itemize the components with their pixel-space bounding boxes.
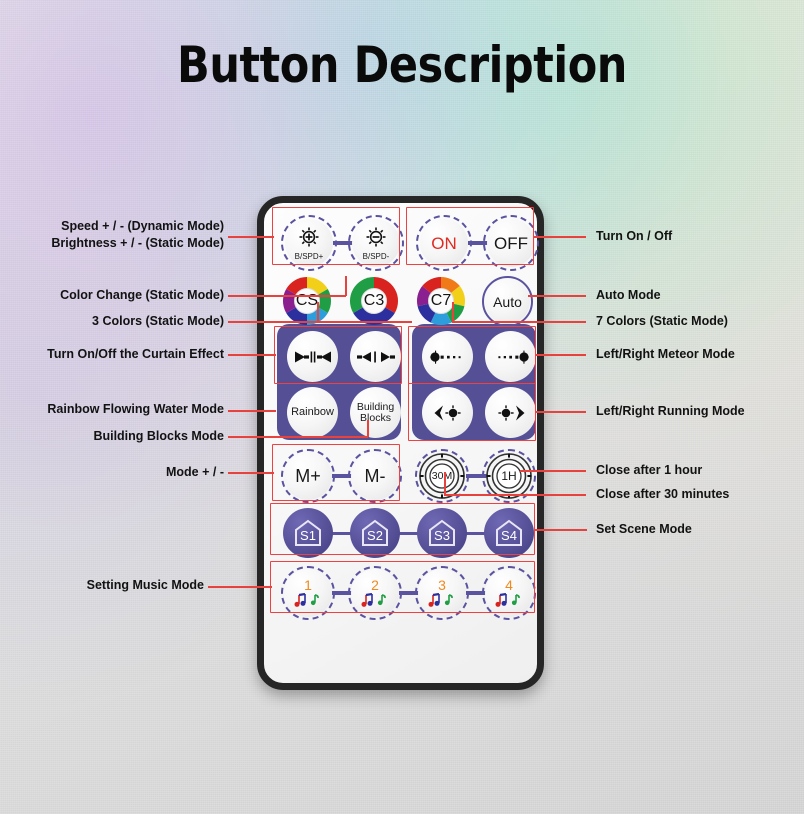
label-curtain: Turn On/Off the Curtain Effect (0, 347, 224, 361)
leader-three-colors (228, 321, 412, 323)
building-blocks-label-line2: Blocks (360, 413, 391, 424)
leader-close-1h (520, 470, 586, 472)
c3-button[interactable]: C3 (349, 276, 399, 326)
label-scene: Set Scene Mode (596, 522, 692, 536)
annotation-box-mode (272, 444, 400, 501)
rainbow-label: Rainbow (291, 407, 334, 418)
leader-turn-on-off (534, 236, 586, 238)
annotation-box-scene (270, 503, 535, 555)
annotation-box-onoff (406, 207, 534, 265)
leader-close-30m (444, 494, 586, 496)
label-speed-line2: Brightness + / - (Static Mode) (0, 236, 224, 250)
label-close-1h: Close after 1 hour (596, 463, 702, 477)
annotation-box-curtain (274, 326, 402, 384)
label-rainbow: Rainbow Flowing Water Mode (0, 402, 224, 416)
leader-30m-v (444, 472, 446, 495)
c7-button[interactable]: C7 (416, 276, 466, 326)
label-mode: Mode + / - (0, 465, 224, 479)
leader-three-colors-v (317, 302, 319, 322)
label-three-colors: 3 Colors (Static Mode) (0, 314, 224, 328)
leader-seven-colors (452, 321, 586, 323)
leader-speed (228, 236, 274, 238)
leader-music (208, 586, 272, 588)
c3-label: C3 (364, 293, 384, 309)
leader-rainbow (228, 410, 276, 412)
label-seven-colors: 7 Colors (Static Mode) (596, 314, 728, 328)
leader-color-change-v (345, 276, 347, 296)
leader-scene (535, 529, 587, 531)
label-music: Setting Music Mode (0, 578, 204, 592)
remote-control-body: B/SPD+ B/SPD- ON OFF (257, 196, 544, 690)
label-close-30m: Close after 30 minutes (596, 487, 729, 501)
leader-meteor (536, 354, 586, 356)
building-blocks-label-line1: Building (357, 402, 394, 413)
annotation-box-running (408, 383, 536, 441)
leader-running (536, 411, 586, 413)
timer-1h-button[interactable]: 1H (485, 452, 533, 500)
label-running: Left/Right Running Mode (596, 404, 745, 418)
c7-label: C7 (431, 293, 451, 309)
leader-building-blocks (228, 436, 368, 438)
page-title: Button Description (56, 36, 747, 94)
label-color-change: Color Change (Static Mode) (0, 288, 224, 302)
timer-30m-button[interactable]: 30M (418, 452, 466, 500)
auto-label: Auto (493, 295, 522, 309)
leader-curtain (228, 354, 276, 356)
leader-7c-v (452, 302, 454, 322)
timer-1h-label: 1H (501, 470, 516, 482)
annotation-box-speed (272, 207, 400, 265)
annotation-box-meteor (408, 326, 536, 384)
leader-auto-mode (528, 295, 586, 297)
connector-timer (466, 474, 487, 478)
leader-mode (228, 472, 274, 474)
timer-30m-label: 30M (432, 471, 452, 482)
auto-button[interactable]: Auto (485, 279, 530, 324)
annotation-box-music (270, 561, 535, 613)
cs-button[interactable]: CS (282, 276, 332, 326)
label-meteor: Left/Right Meteor Mode (596, 347, 735, 361)
label-auto-mode: Auto Mode (596, 288, 661, 302)
leader-bb-v (367, 420, 369, 437)
leader-color-change (228, 295, 346, 297)
label-speed-line1: Speed + / - (Dynamic Mode) (0, 219, 224, 233)
rainbow-button[interactable]: Rainbow (287, 387, 338, 438)
label-building-blocks: Building Blocks Mode (0, 429, 224, 443)
label-turn-on-off: Turn On / Off (596, 229, 672, 243)
building-blocks-button[interactable]: Building Blocks (350, 387, 401, 438)
